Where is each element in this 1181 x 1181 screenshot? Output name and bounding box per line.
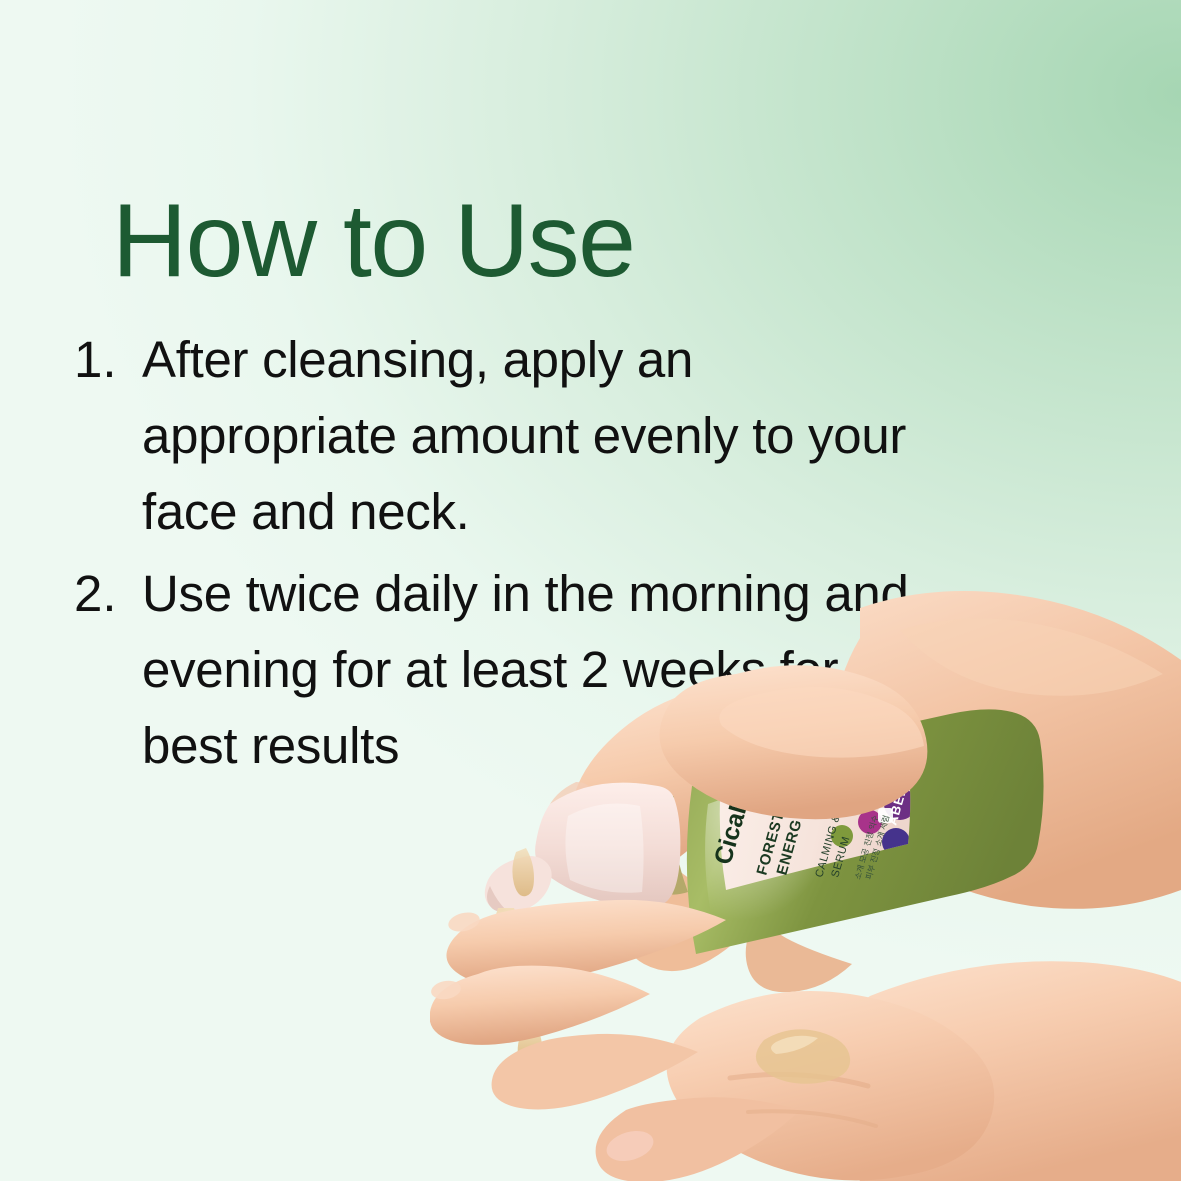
page-title: How to Use bbox=[112, 189, 635, 293]
step-text: After cleansing, apply an appropriate am… bbox=[142, 322, 942, 550]
infographic-page: How to Use 1. After cleansing, apply an … bbox=[0, 0, 1181, 1181]
list-item: 1. After cleansing, apply an appropriate… bbox=[74, 322, 1004, 550]
step-number: 1. bbox=[74, 322, 142, 398]
step-number: 2. bbox=[74, 556, 142, 632]
product-photo: ABEREDE CicaPine™ FOREST NEEDLE ENERGY C… bbox=[430, 590, 1181, 1181]
lower-hand bbox=[430, 900, 1181, 1181]
